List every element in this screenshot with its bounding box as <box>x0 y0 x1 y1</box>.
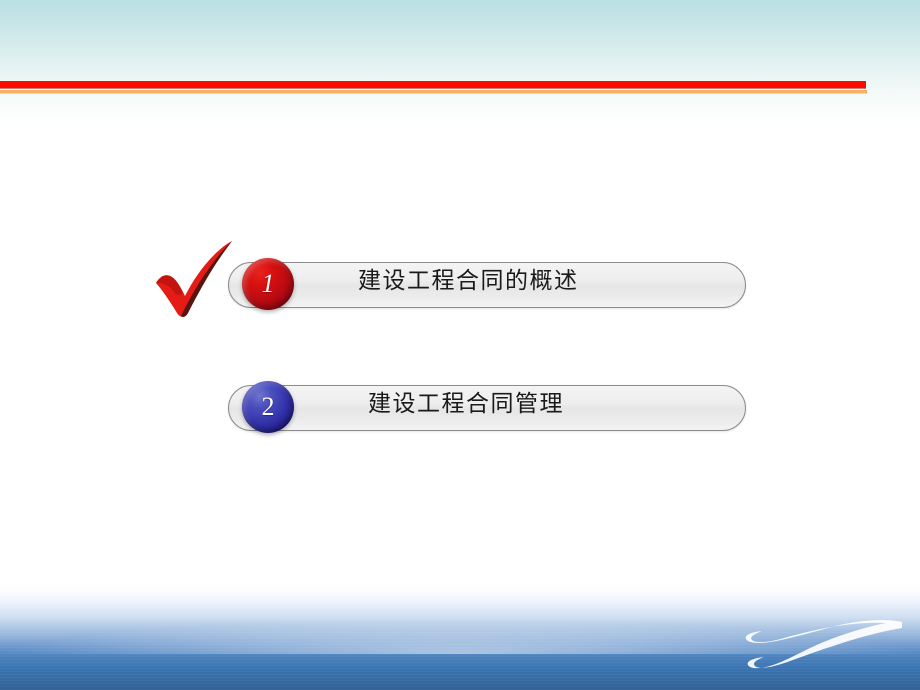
agenda-item-1-badge: 1 <box>242 258 294 310</box>
red-checkmark-icon <box>152 238 238 320</box>
agenda-item-1-label: 建设工程合同的概述 <box>358 258 579 304</box>
presentation-slide: 1 建设工程合同的概述 2 建设工程合同管理 <box>0 0 920 690</box>
agenda-item-1-number: 1 <box>262 269 275 298</box>
agenda-item-2-number: 2 <box>262 392 275 421</box>
agenda-item-2-badge: 2 <box>242 381 294 433</box>
agenda-item-2-label: 建设工程合同管理 <box>368 381 564 427</box>
ocean-footer-image <box>0 580 920 690</box>
